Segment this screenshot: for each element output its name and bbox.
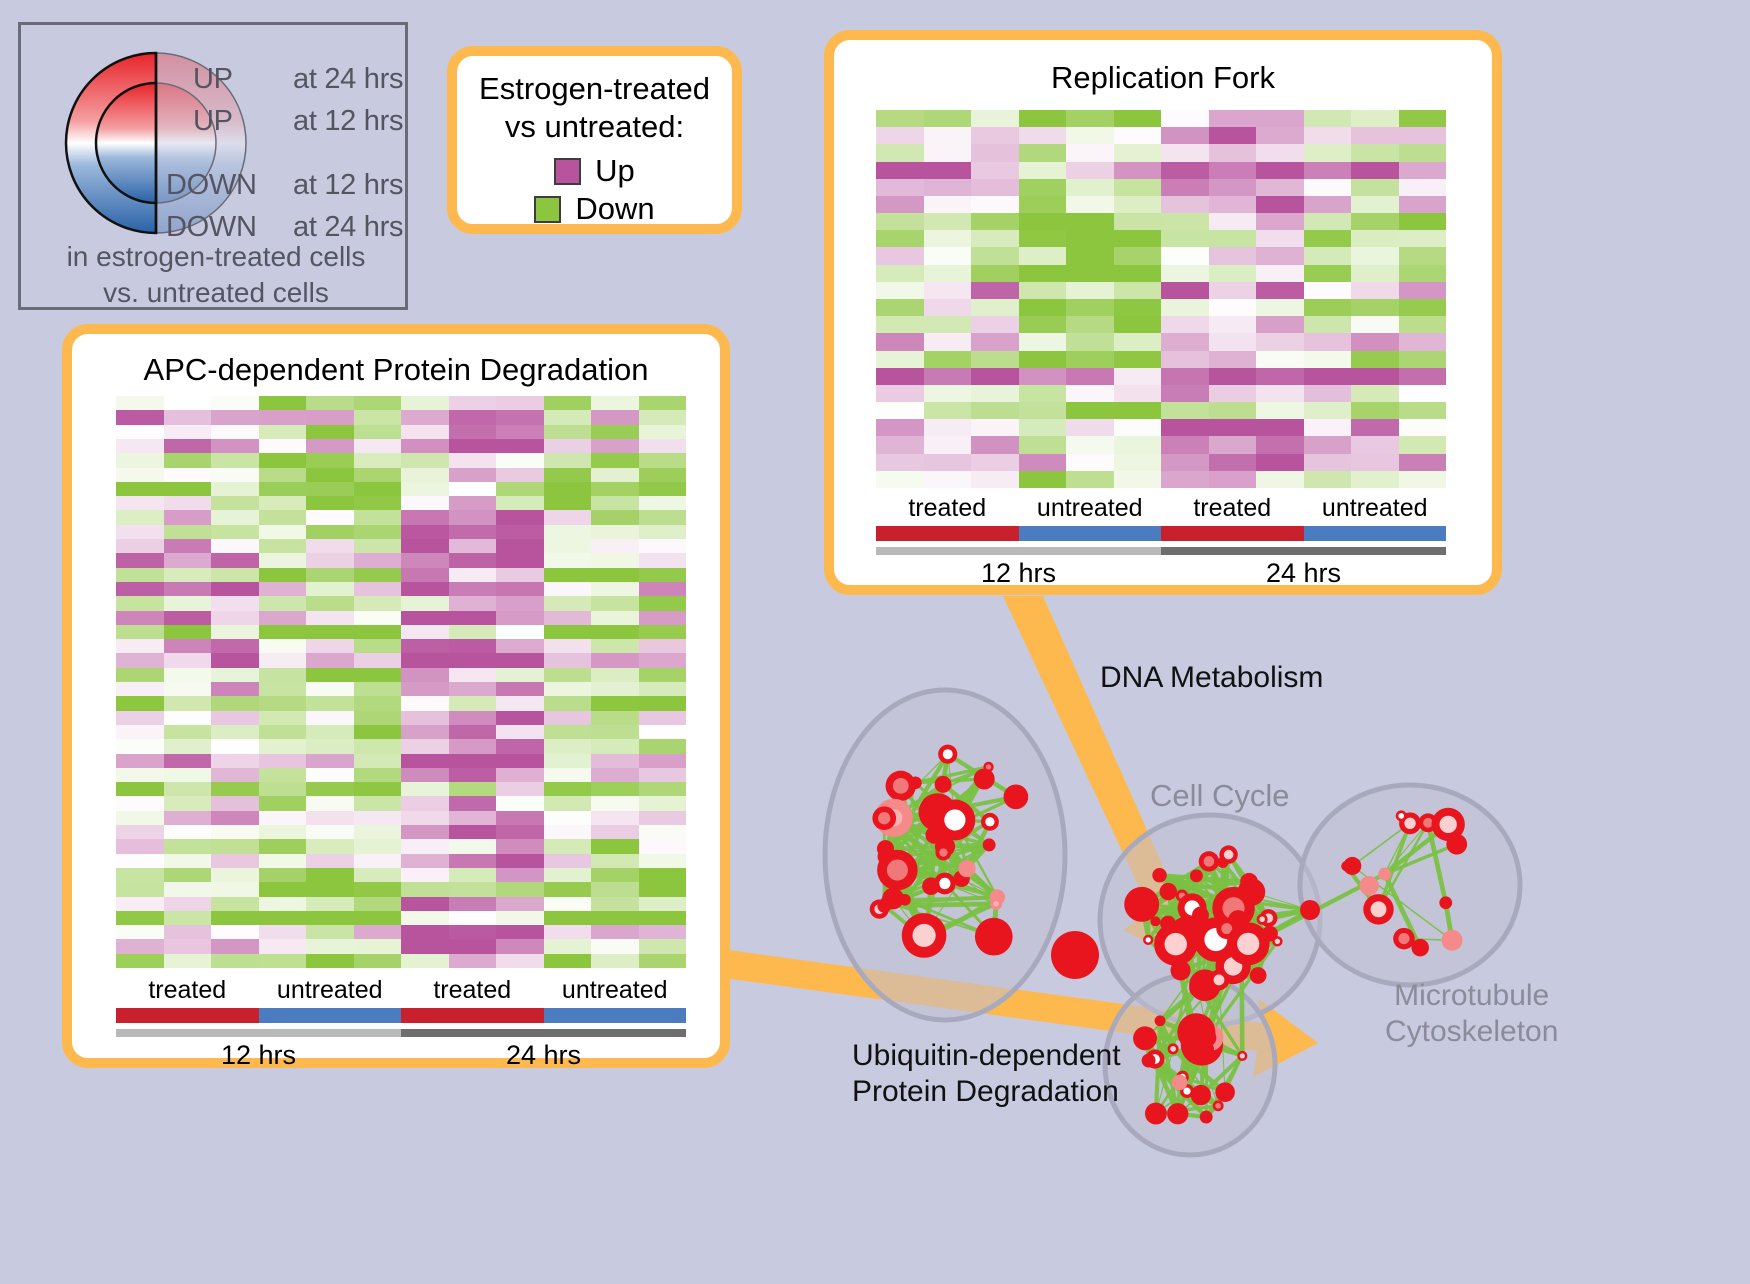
heat-cell	[401, 911, 449, 925]
heat-cell	[496, 925, 544, 939]
heat-cell	[306, 754, 354, 768]
heat-cell	[544, 768, 592, 782]
heat-cell	[591, 453, 639, 467]
heat-cell	[1304, 316, 1352, 333]
heat-cell	[211, 939, 259, 953]
heat-cell	[544, 568, 592, 582]
heat-cell	[1351, 196, 1399, 213]
wheel-row-1-time: at 12 hrs	[293, 105, 403, 138]
heat-cell	[1114, 454, 1162, 471]
heat-cell	[639, 525, 687, 539]
heat-cell	[1304, 402, 1352, 419]
heat-cell	[449, 439, 497, 453]
heat-cell	[971, 213, 1019, 230]
heat-cell	[211, 854, 259, 868]
heat-cell	[401, 882, 449, 896]
heat-cell	[401, 725, 449, 739]
heat-cell	[591, 825, 639, 839]
heat-cell	[259, 911, 307, 925]
heat-cell	[1114, 351, 1162, 368]
heat-cell	[449, 868, 497, 882]
heat-cell	[116, 653, 164, 667]
heat-cell	[1351, 162, 1399, 179]
heat-cell	[401, 796, 449, 810]
heat-cell	[496, 553, 544, 567]
heat-cell	[211, 453, 259, 467]
heat-cell	[1161, 247, 1209, 264]
heat-cell	[544, 425, 592, 439]
heat-cell	[1066, 247, 1114, 264]
heat-cell	[1209, 110, 1257, 127]
heat-cell	[116, 596, 164, 610]
heat-cell	[639, 811, 687, 825]
heat-cell	[496, 854, 544, 868]
heat-cell	[1256, 419, 1304, 436]
heat-cell	[1399, 454, 1447, 471]
heat-cell	[401, 825, 449, 839]
wheel-caption: in estrogen-treated cells vs. untreated …	[21, 239, 411, 311]
heat-cell	[211, 696, 259, 710]
legend-title-line2: vs untreated:	[457, 108, 732, 146]
heat-cell	[1351, 333, 1399, 350]
heat-cell	[496, 839, 544, 853]
heat-cell	[116, 568, 164, 582]
heat-cell	[1066, 368, 1114, 385]
heat-cell	[1161, 230, 1209, 247]
heat-cell	[449, 496, 497, 510]
heat-cell	[1066, 265, 1114, 282]
heat-cell	[544, 539, 592, 553]
heat-cell	[591, 911, 639, 925]
heat-cell	[1351, 402, 1399, 419]
heat-cell	[924, 471, 972, 488]
heat-cell	[164, 668, 212, 682]
heat-cell	[116, 782, 164, 796]
heat-cell	[164, 568, 212, 582]
heat-cell	[164, 711, 212, 725]
heat-cell	[306, 768, 354, 782]
heat-cell	[354, 782, 402, 796]
heat-cell	[496, 425, 544, 439]
heat-cell	[1114, 247, 1162, 264]
heat-cell	[591, 739, 639, 753]
heat-cell	[496, 396, 544, 410]
heat-cell	[354, 653, 402, 667]
heat-cell	[924, 282, 972, 299]
heat-cell	[1351, 144, 1399, 161]
heat-cell	[1019, 213, 1067, 230]
apc-group-labels: treated untreated treated untreated	[116, 974, 686, 1006]
heat-cell	[259, 653, 307, 667]
heat-cell	[211, 653, 259, 667]
heat-cell	[544, 825, 592, 839]
heat-cell	[496, 568, 544, 582]
heat-cell	[401, 939, 449, 953]
heat-cell	[591, 639, 639, 653]
heat-cell	[116, 939, 164, 953]
heat-cell	[354, 496, 402, 510]
heat-cell	[164, 625, 212, 639]
heat-cell	[116, 911, 164, 925]
legend-item-down: Down	[534, 190, 654, 228]
heat-cell	[544, 754, 592, 768]
heat-cell	[259, 553, 307, 567]
heat-cell	[449, 668, 497, 682]
heat-cell	[259, 754, 307, 768]
heat-cell	[1209, 162, 1257, 179]
heat-cell	[354, 410, 402, 424]
heat-cell	[1304, 162, 1352, 179]
heat-cell	[211, 582, 259, 596]
heat-cell	[591, 396, 639, 410]
heat-cell	[591, 468, 639, 482]
heat-cell	[971, 436, 1019, 453]
legend-title-line1: Estrogen-treated	[457, 70, 732, 108]
heat-cell	[1161, 471, 1209, 488]
replication-fork-axis: treated untreated treated untreated 12 h…	[876, 492, 1446, 591]
heat-cell	[1399, 368, 1447, 385]
heat-cell	[401, 396, 449, 410]
heat-cell	[1399, 247, 1447, 264]
heat-cell	[1304, 368, 1352, 385]
heat-cell	[401, 954, 449, 968]
heat-cell	[164, 725, 212, 739]
replication-fork-panel: Replication Fork treated untreated treat…	[824, 30, 1502, 595]
heat-cell	[1399, 144, 1447, 161]
heat-cell	[306, 596, 354, 610]
heat-cell	[971, 333, 1019, 350]
heat-cell	[211, 782, 259, 796]
heat-cell	[211, 625, 259, 639]
heat-cell	[1161, 110, 1209, 127]
heat-cell	[544, 639, 592, 653]
heat-cell	[306, 653, 354, 667]
heat-cell	[116, 639, 164, 653]
heat-cell	[971, 265, 1019, 282]
heat-cell	[449, 882, 497, 896]
legend-label-down: Down	[575, 191, 654, 227]
heat-cell	[1399, 127, 1447, 144]
heat-cell	[259, 839, 307, 853]
heat-cell	[496, 611, 544, 625]
heat-cell	[1161, 162, 1209, 179]
rf-group-labels: treated untreated treated untreated	[876, 492, 1446, 524]
heat-cell	[449, 482, 497, 496]
heat-cell	[639, 553, 687, 567]
heat-cell	[354, 754, 402, 768]
heat-cell	[1066, 436, 1114, 453]
heat-cell	[496, 539, 544, 553]
heat-cell	[1399, 179, 1447, 196]
heat-cell	[1019, 110, 1067, 127]
heat-cell	[924, 402, 972, 419]
heat-cell	[971, 282, 1019, 299]
heat-cell	[354, 868, 402, 882]
heat-cell	[116, 811, 164, 825]
heat-cell	[1019, 419, 1067, 436]
heat-cell	[1209, 316, 1257, 333]
rf-bar-3	[1304, 526, 1447, 541]
heat-cell	[591, 839, 639, 853]
heat-cell	[449, 539, 497, 553]
heat-cell	[876, 265, 924, 282]
heat-cell	[924, 385, 972, 402]
heat-cell	[449, 582, 497, 596]
heat-cell	[1209, 454, 1257, 471]
apc-time-bar-0	[116, 1029, 401, 1037]
heat-cell	[211, 410, 259, 424]
heat-cell	[211, 725, 259, 739]
heat-cell	[544, 939, 592, 953]
heat-cell	[164, 482, 212, 496]
heat-cell	[544, 410, 592, 424]
heat-cell	[306, 468, 354, 482]
heat-cell	[401, 682, 449, 696]
heat-cell	[164, 739, 212, 753]
heat-cell	[1304, 419, 1352, 436]
heat-cell	[449, 625, 497, 639]
heat-cell	[591, 668, 639, 682]
heat-cell	[449, 839, 497, 853]
heat-cell	[354, 539, 402, 553]
heat-cell	[211, 496, 259, 510]
wheel-row-0-direction: UP	[193, 63, 233, 96]
heat-cell	[1256, 247, 1304, 264]
heat-cell	[354, 954, 402, 968]
rf-time-bar-1	[1161, 547, 1446, 555]
heat-cell	[924, 179, 972, 196]
heat-cell	[449, 525, 497, 539]
heat-cell	[639, 796, 687, 810]
heat-cell	[211, 639, 259, 653]
heat-cell	[1161, 436, 1209, 453]
heat-cell	[354, 725, 402, 739]
legend-label-up: Up	[595, 153, 635, 189]
heat-cell	[924, 144, 972, 161]
heat-cell	[164, 782, 212, 796]
heat-cell	[639, 510, 687, 524]
heat-cell	[164, 396, 212, 410]
heat-cell	[639, 854, 687, 868]
heat-cell	[1161, 316, 1209, 333]
heat-cell	[259, 782, 307, 796]
heat-cell	[496, 825, 544, 839]
heat-cell	[354, 696, 402, 710]
heat-cell	[354, 682, 402, 696]
heat-cell	[1256, 230, 1304, 247]
heat-cell	[259, 410, 307, 424]
heat-cell	[1304, 471, 1352, 488]
heat-cell	[116, 611, 164, 625]
heat-cell	[496, 653, 544, 667]
heat-cell	[449, 568, 497, 582]
heat-cell	[449, 653, 497, 667]
cluster-label-microtubule-cytoskeleton: Microtubule Cytoskeleton	[1385, 978, 1558, 1050]
heat-cell	[639, 596, 687, 610]
heat-cell	[971, 110, 1019, 127]
heat-cell	[924, 419, 972, 436]
heat-cell	[401, 811, 449, 825]
heat-cell	[354, 568, 402, 582]
heat-cell	[544, 725, 592, 739]
heat-cell	[116, 768, 164, 782]
heat-cell	[306, 439, 354, 453]
heat-cell	[401, 625, 449, 639]
heat-cell	[401, 754, 449, 768]
heat-cell	[496, 482, 544, 496]
heat-cell	[971, 471, 1019, 488]
heat-cell	[306, 410, 354, 424]
heat-cell	[259, 453, 307, 467]
heat-cell	[1066, 127, 1114, 144]
heat-cell	[1256, 316, 1304, 333]
heat-cell	[211, 825, 259, 839]
heat-cell	[591, 553, 639, 567]
heat-cell	[1114, 402, 1162, 419]
heat-cell	[544, 468, 592, 482]
heat-cell	[306, 711, 354, 725]
apc-heatmap	[116, 396, 686, 968]
heat-cell	[1019, 282, 1067, 299]
apc-panel: APC-dependent Protein Degradation treate…	[62, 324, 730, 1068]
heat-cell	[306, 482, 354, 496]
heat-cell	[259, 596, 307, 610]
apc-time-0: 12 hrs	[116, 1037, 401, 1073]
heat-cell	[306, 882, 354, 896]
heat-cell	[259, 925, 307, 939]
apc-group-3: untreated	[544, 974, 687, 1006]
heat-cell	[354, 897, 402, 911]
heat-cell	[259, 939, 307, 953]
heat-cell	[1399, 110, 1447, 127]
heat-cell	[1351, 368, 1399, 385]
heat-cell	[259, 696, 307, 710]
heat-cell	[306, 839, 354, 853]
heat-cell	[116, 396, 164, 410]
heat-cell	[591, 510, 639, 524]
heat-cell	[1399, 162, 1447, 179]
heat-cell	[924, 351, 972, 368]
heat-cell	[544, 897, 592, 911]
heat-cell	[259, 439, 307, 453]
heat-cell	[401, 439, 449, 453]
heat-cell	[401, 525, 449, 539]
heat-cell	[1019, 333, 1067, 350]
heat-cell	[591, 725, 639, 739]
heat-cell	[544, 510, 592, 524]
heat-cell	[306, 911, 354, 925]
heat-cell	[306, 939, 354, 953]
heat-cell	[306, 568, 354, 582]
heat-cell	[354, 882, 402, 896]
heat-cell	[1066, 454, 1114, 471]
heat-cell	[639, 668, 687, 682]
heat-cell	[1209, 127, 1257, 144]
heat-cell	[401, 611, 449, 625]
heat-cell	[1304, 196, 1352, 213]
heat-cell	[1066, 196, 1114, 213]
rf-group-0: treated	[876, 492, 1019, 524]
swatch-up-icon	[554, 158, 581, 185]
heat-cell	[639, 396, 687, 410]
heat-cell	[401, 596, 449, 610]
cluster-label-dna-metabolism: DNA Metabolism	[1100, 660, 1323, 696]
heat-cell	[306, 625, 354, 639]
heat-cell	[544, 439, 592, 453]
heat-cell	[116, 510, 164, 524]
heat-cell	[449, 553, 497, 567]
heat-cell	[116, 496, 164, 510]
heat-cell	[544, 553, 592, 567]
heat-cell	[639, 825, 687, 839]
heat-cell	[211, 682, 259, 696]
heat-cell	[354, 711, 402, 725]
heat-cell	[449, 468, 497, 482]
heat-cell	[1114, 265, 1162, 282]
heat-cell	[1256, 196, 1304, 213]
heat-cell	[211, 796, 259, 810]
heat-cell	[1351, 299, 1399, 316]
heat-cell	[164, 696, 212, 710]
heat-cell	[259, 496, 307, 510]
heat-cell	[639, 739, 687, 753]
heat-cell	[354, 811, 402, 825]
heat-cell	[1161, 265, 1209, 282]
heat-cell	[164, 611, 212, 625]
heat-cell	[1114, 162, 1162, 179]
heat-cell	[1256, 110, 1304, 127]
heat-cell	[924, 436, 972, 453]
heat-cell	[449, 725, 497, 739]
heat-cell	[116, 954, 164, 968]
heat-cell	[639, 882, 687, 896]
legend-item-up: Up	[554, 152, 635, 190]
heat-cell	[876, 454, 924, 471]
heat-cell	[544, 911, 592, 925]
heat-cell	[306, 782, 354, 796]
wheel-row-0-time: at 24 hrs	[293, 63, 403, 96]
heat-cell	[591, 625, 639, 639]
heat-cell	[259, 725, 307, 739]
apc-axis: treated untreated treated untreated 12 h…	[116, 974, 686, 1073]
heat-cell	[876, 144, 924, 161]
heat-cell	[1019, 385, 1067, 402]
rf-time-bar-0	[876, 547, 1161, 555]
heat-cell	[639, 625, 687, 639]
heat-cell	[1304, 127, 1352, 144]
heat-cell	[164, 653, 212, 667]
heat-cell	[971, 316, 1019, 333]
heat-cell	[211, 482, 259, 496]
heat-cell	[496, 897, 544, 911]
heat-cell	[876, 230, 924, 247]
heat-cell	[354, 510, 402, 524]
wheel-caption-line1: in estrogen-treated cells	[21, 239, 411, 275]
heat-cell	[116, 553, 164, 567]
heat-cell	[1209, 436, 1257, 453]
heat-cell	[116, 868, 164, 882]
heat-cell	[924, 368, 972, 385]
heat-cell	[306, 425, 354, 439]
heat-cell	[1351, 419, 1399, 436]
heat-cell	[306, 682, 354, 696]
heat-cell	[1256, 385, 1304, 402]
heat-cell	[211, 439, 259, 453]
heat-cell	[1114, 196, 1162, 213]
heat-cell	[211, 839, 259, 853]
heat-cell	[924, 299, 972, 316]
rf-time-bars	[876, 547, 1446, 555]
